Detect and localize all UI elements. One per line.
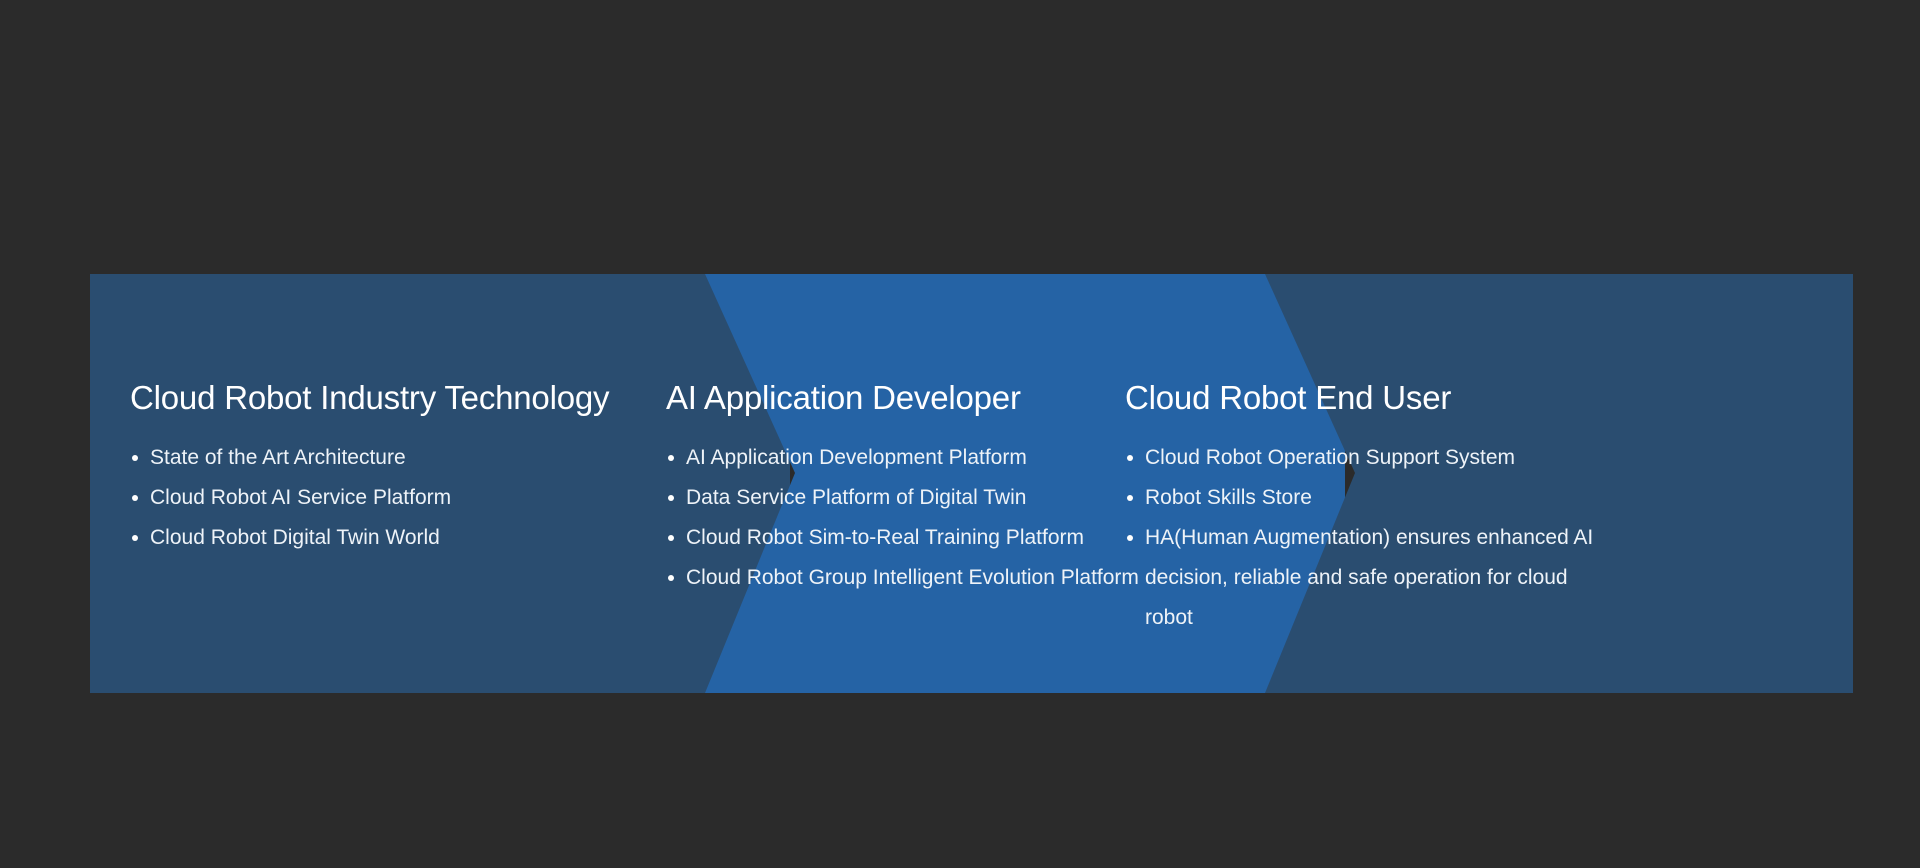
list-item: Data Service Platform of Digital Twin <box>668 478 1139 518</box>
bullet-list-cloud-robot-end-user: Cloud Robot Operation Support System Rob… <box>1127 438 1615 638</box>
bullet-dot-icon <box>668 575 674 581</box>
panel-title-industry-technology: Cloud Robot Industry Technology <box>130 379 609 417</box>
list-item: HA(Human Augmentation) ensures enhanced … <box>1127 518 1615 638</box>
bullet-dot-icon <box>668 535 674 541</box>
list-item-label: State of the Art Architecture <box>150 446 406 469</box>
content-cloud-robot-end-user: Cloud Robot End User Cloud Robot Operati… <box>1125 379 1615 638</box>
list-item-label: Cloud Robot Digital Twin World <box>150 526 440 549</box>
bullet-dot-icon <box>1127 455 1133 461</box>
list-item-label: Cloud Robot Group Intelligent Evolution … <box>686 566 1139 589</box>
bullet-dot-icon <box>668 495 674 501</box>
bullet-list-industry-technology: State of the Art Architecture Cloud Robo… <box>132 438 609 558</box>
list-item: State of the Art Architecture <box>132 438 609 478</box>
list-item-label: Robot Skills Store <box>1145 486 1312 509</box>
list-item-label: Cloud Robot AI Service Platform <box>150 486 451 509</box>
list-item: AI Application Development Platform <box>668 438 1139 478</box>
list-item-label: HA(Human Augmentation) ensures enhanced … <box>1145 526 1593 629</box>
panel-title-cloud-robot-end-user: Cloud Robot End User <box>1125 379 1615 417</box>
list-item: Cloud Robot AI Service Platform <box>132 478 609 518</box>
bullet-dot-icon <box>1127 495 1133 501</box>
bullet-list-ai-application-developer: AI Application Development Platform Data… <box>668 438 1139 598</box>
list-item-label: Cloud Robot Operation Support System <box>1145 446 1515 469</box>
bullet-dot-icon <box>668 455 674 461</box>
bullet-dot-icon <box>132 495 138 501</box>
content-cloud-robot-industry-technology: Cloud Robot Industry Technology State of… <box>130 379 609 558</box>
list-item-label: Data Service Platform of Digital Twin <box>686 486 1026 509</box>
list-item-label: Cloud Robot Sim-to-Real Training Platfor… <box>686 526 1084 549</box>
list-item-label: AI Application Development Platform <box>686 446 1027 469</box>
list-item: Cloud Robot Group Intelligent Evolution … <box>668 558 1139 598</box>
list-item: Robot Skills Store <box>1127 478 1615 518</box>
list-item: Cloud Robot Digital Twin World <box>132 518 609 558</box>
panel-title-ai-application-developer: AI Application Developer <box>666 379 1139 417</box>
bullet-dot-icon <box>132 535 138 541</box>
chevron-banner: Cloud Robot Industry Technology State of… <box>90 274 1853 693</box>
list-item: Cloud Robot Operation Support System <box>1127 438 1615 478</box>
content-ai-application-developer: AI Application Developer AI Application … <box>666 379 1139 598</box>
list-item: Cloud Robot Sim-to-Real Training Platfor… <box>668 518 1139 558</box>
bullet-dot-icon <box>1127 535 1133 541</box>
bullet-dot-icon <box>132 455 138 461</box>
